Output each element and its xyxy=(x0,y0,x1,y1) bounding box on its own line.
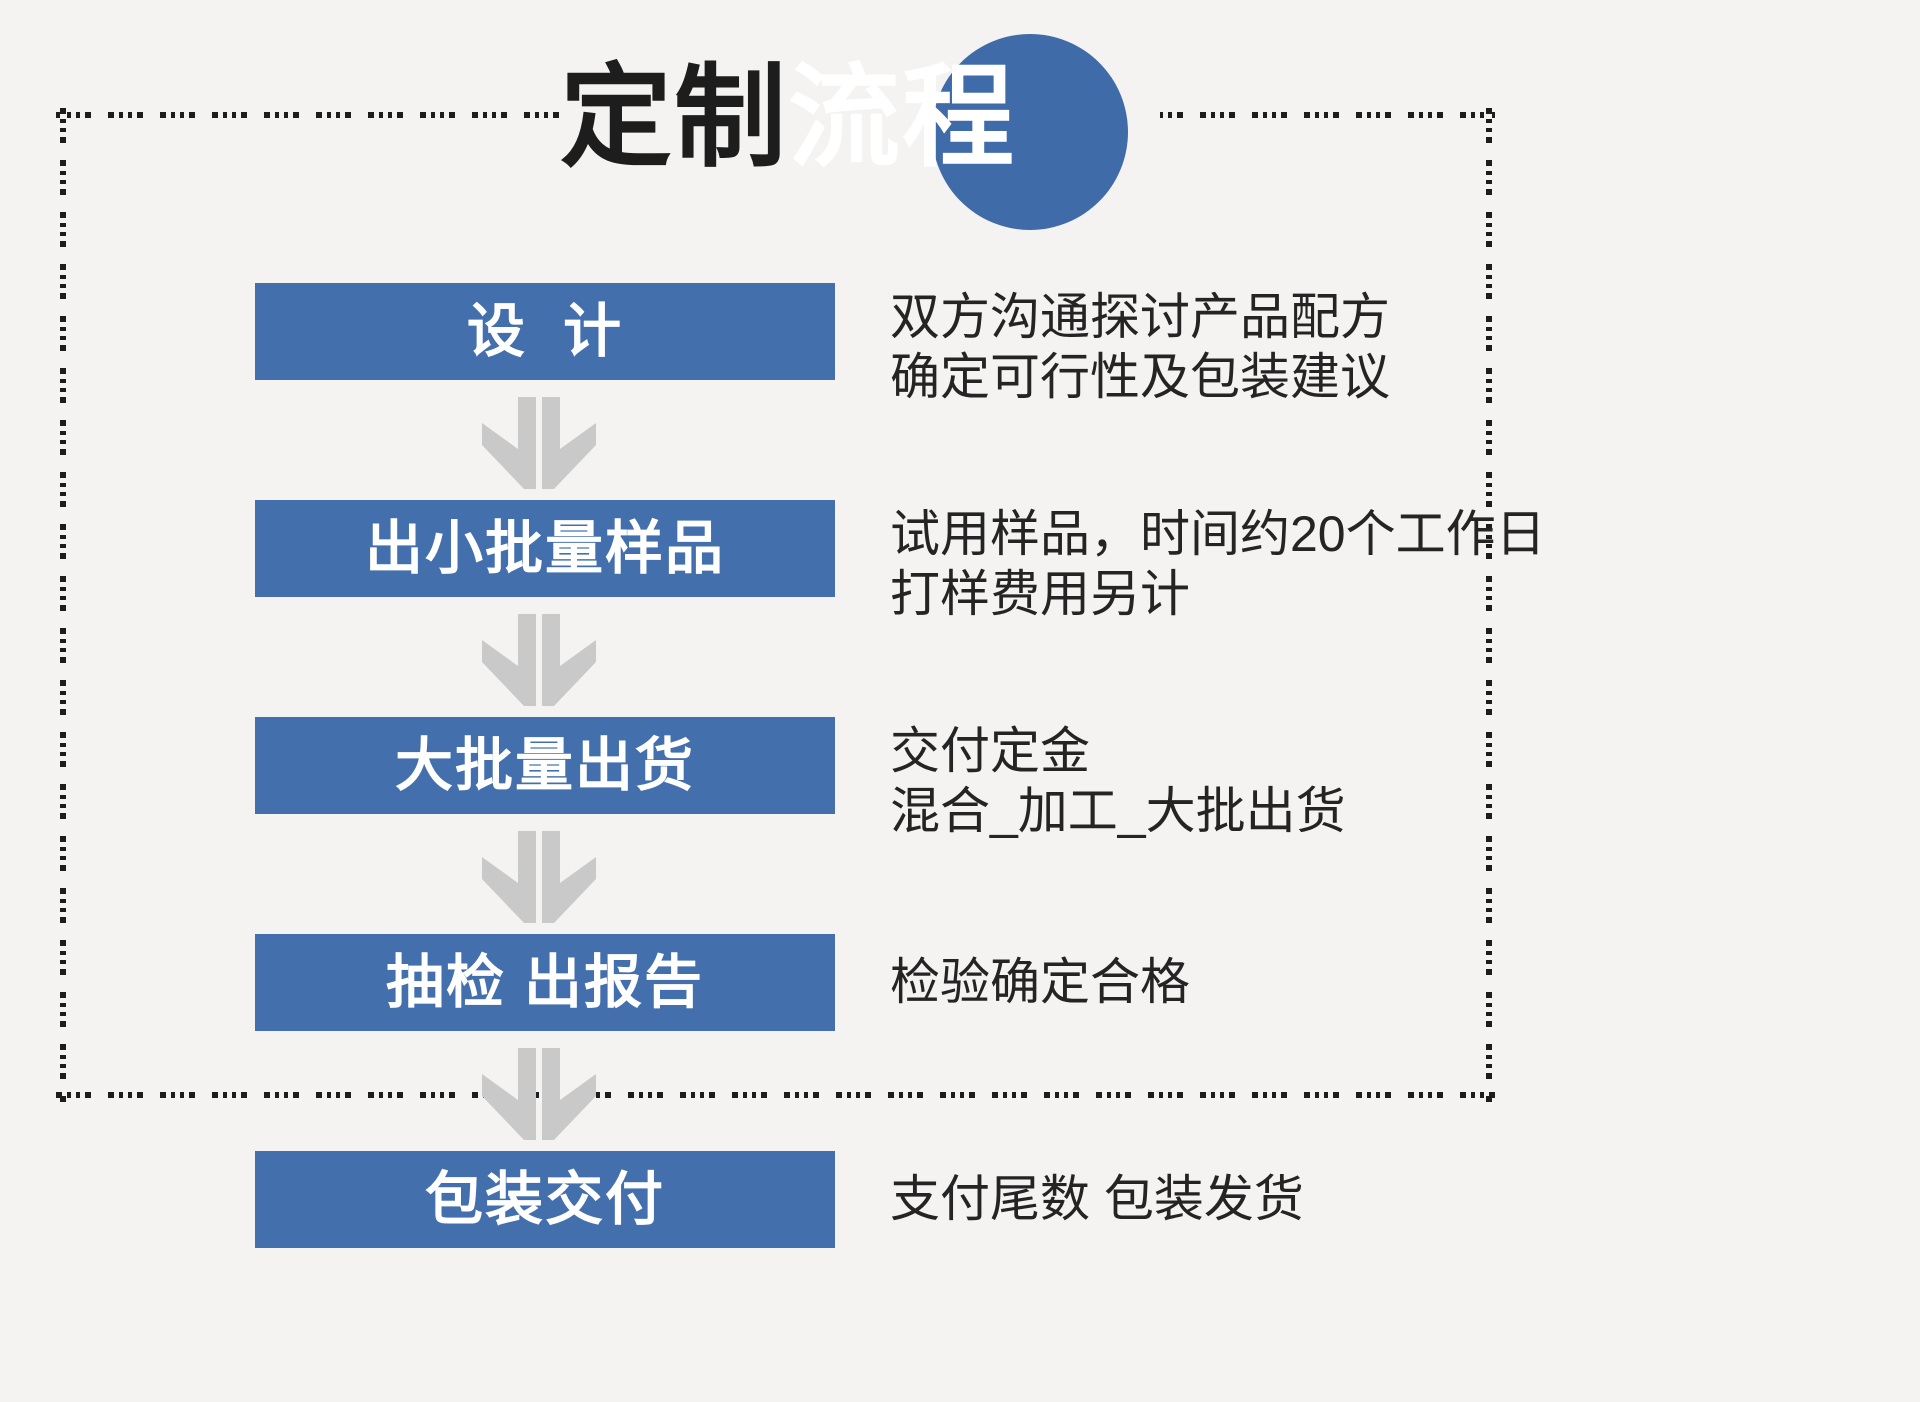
double-down-arrow-icon xyxy=(480,831,598,923)
step-description: 支付尾数 包装发货 xyxy=(890,1169,1850,1229)
step-description: 检验确定合格 xyxy=(890,952,1850,1012)
step-description: 试用样品，时间约20个工作日 打样费用另计 xyxy=(890,504,1850,624)
double-down-arrow-icon xyxy=(480,1048,598,1140)
double-down-arrow-icon xyxy=(480,397,598,489)
flow-diagram: 设 计 双方沟通探讨产品配方 确定可行性及包装建议 出小批量样品 试用样品，时间… xyxy=(0,0,1920,1402)
double-down-arrow-icon xyxy=(480,614,598,706)
step-box-small-batch-sample[interactable]: 出小批量样品 xyxy=(255,500,835,597)
infographic-canvas: 定制流程 设 计 双方沟通探讨产品配方 确定可行性及包装建议 出小批量样品 试用… xyxy=(0,0,1920,1402)
step-box-inspection-report[interactable]: 抽检 出报告 xyxy=(255,934,835,1031)
step-box-bulk-shipment[interactable]: 大批量出货 xyxy=(255,717,835,814)
step-label: 出小批量样品 xyxy=(365,520,725,578)
step-label: 设 计 xyxy=(467,303,623,361)
step-description: 双方沟通探讨产品配方 确定可行性及包装建议 xyxy=(890,287,1850,407)
step-box-packaging-delivery[interactable]: 包装交付 xyxy=(255,1151,835,1248)
step-label: 包装交付 xyxy=(425,1171,665,1229)
step-description: 交付定金 混合_加工_大批出货 xyxy=(890,721,1850,841)
step-label: 抽检 出报告 xyxy=(386,954,704,1012)
step-box-design[interactable]: 设 计 xyxy=(255,283,835,380)
step-label: 大批量出货 xyxy=(395,737,695,795)
